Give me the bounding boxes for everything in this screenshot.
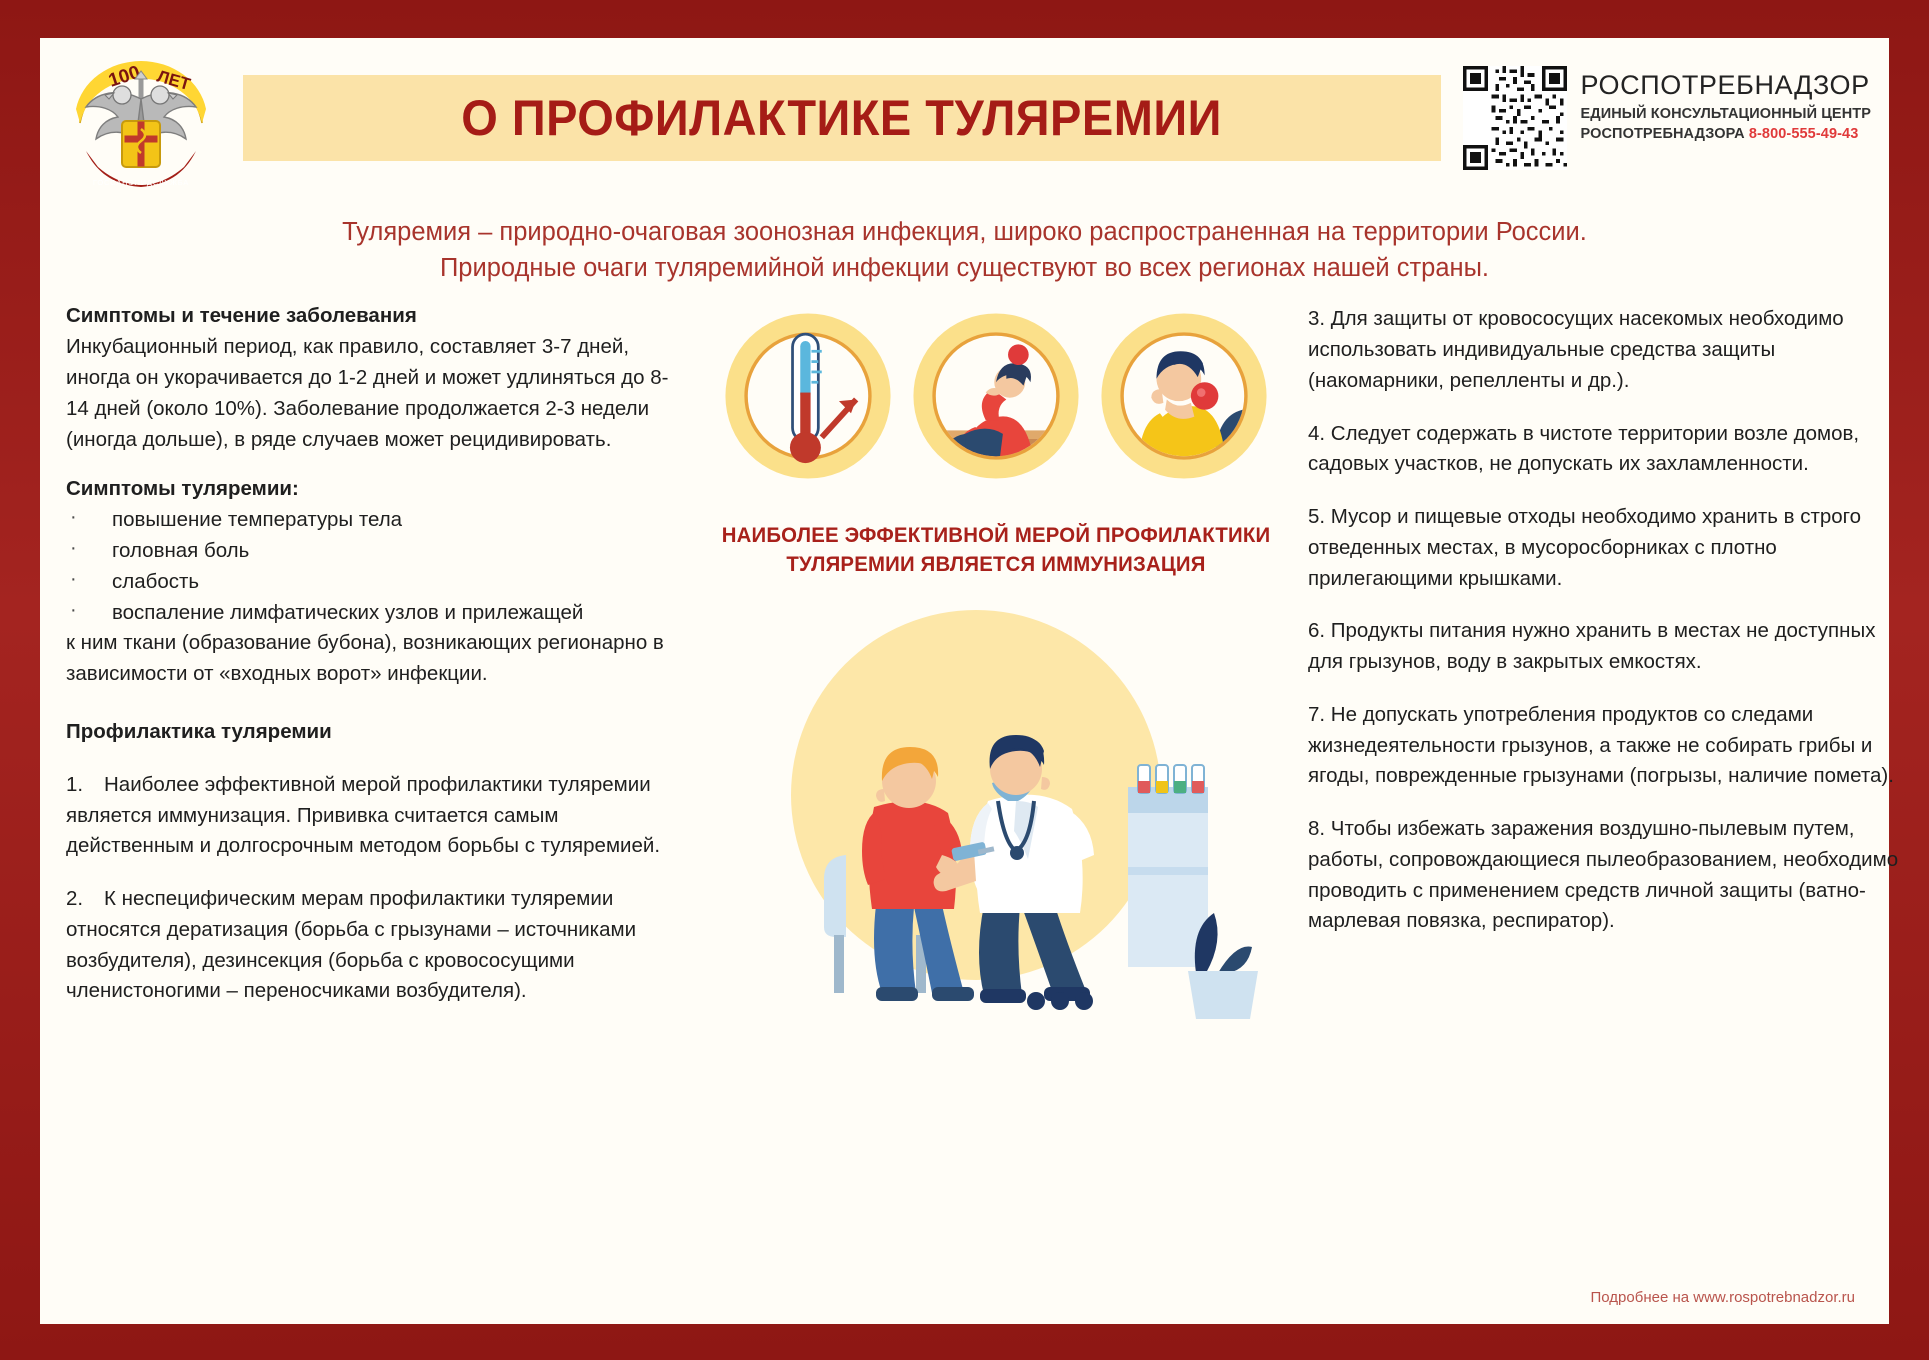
doctor-vaccinating-patient-illustration <box>726 605 1266 1035</box>
brand-block: РОСПОТРЕБНАДЗОР ЕДИНЫЙ КОНСУЛЬТАЦИОННЫЙ … <box>1463 66 1889 170</box>
symptoms-heading: Симптомы и течение заболевания <box>66 304 684 328</box>
symptom-list: повышение температуры тела головная боль… <box>66 505 684 628</box>
prevention-item-1-text: Наиболее эффективной мерой профилактики … <box>66 773 660 858</box>
right-column: 3. Для защиты от кровососущих насекомых … <box>1286 304 1906 1035</box>
title-banner: О ПРОФИЛАКТИКЕ ТУЛЯРЕМИИ <box>243 75 1441 161</box>
prevention-item-5: 5. Мусор и пищевые отходы необходимо хра… <box>1308 502 1906 594</box>
footer-link[interactable]: Подробнее на www.rospotrebnadzor.ru <box>1591 1289 1856 1306</box>
rospotrebnadzor-emblem: 100 ЛЕТ ГОССАНЭПИДСЛУЖБА <box>48 43 233 193</box>
vaccination-illustration-wrap <box>706 605 1286 1035</box>
person-swollen-lymph-node-icon <box>1098 310 1270 482</box>
poster-header: 100 ЛЕТ ГОССАНЭПИДСЛУЖБА <box>40 38 1889 198</box>
prevention-item-6: 6. Продукты питания нужно хранить в мест… <box>1308 616 1906 678</box>
symptom-list-tail: к ним ткани (образование бубона), возник… <box>66 628 684 690</box>
content-columns: Симптомы и течение заболевания Инкубацио… <box>40 296 1889 1035</box>
qr-code-icon[interactable] <box>1463 66 1567 170</box>
consult-center-line2: РОСПОТРЕБНАДЗОРА <box>1581 126 1745 142</box>
prevention-heading: Профилактика туляремии <box>66 720 684 744</box>
middle-column: НАИБОЛЕЕ ЭФФЕКТИВНОЙ МЕРОЙ ПРОФИЛАКТИКИ … <box>706 304 1286 1035</box>
person-headache-icon <box>910 310 1082 482</box>
prevention-item-4: 4. Следует содержать в чистоте территори… <box>1308 419 1906 481</box>
poster-content: 100 ЛЕТ ГОССАНЭПИДСЛУЖБА <box>40 38 1889 1324</box>
prevention-item-3: 3. Для защиты от кровососущих насекомых … <box>1308 304 1906 396</box>
hotline-phone[interactable]: 8-800-555-49-43 <box>1749 126 1859 142</box>
prevention-item-2-number: 2. <box>66 884 104 915</box>
thermometer-fever-icon <box>722 310 894 482</box>
brand-name: РОСПОТРЕБНАДЗОР <box>1581 70 1871 101</box>
page-title: О ПРОФИЛАКТИКЕ ТУЛЯРЕМИИ <box>461 89 1222 147</box>
immunization-headline-line-1: НАИБОЛЕЕ ЭФФЕКТИВНОЙ МЕРОЙ ПРОФИЛАКТИКИ <box>715 522 1278 550</box>
poster-frame: 100 ЛЕТ ГОССАНЭПИДСЛУЖБА <box>0 0 1929 1360</box>
immunization-headline-line-2: ТУЛЯРЕМИИ ЯВЛЯЕТСЯ ИММУНИЗАЦИЯ <box>715 551 1278 579</box>
prevention-item-2-text: К неспецифическим мерам профилактики тул… <box>66 887 636 1002</box>
intro-text: Туляремия – природно-очаговая зоонозная … <box>40 198 1889 296</box>
prevention-item-8: 8. Чтобы избежать заражения воздушно-пыл… <box>1308 814 1906 937</box>
double-headed-eagle-icon: 100 ЛЕТ ГОССАНЭПИДСЛУЖБА <box>56 47 226 193</box>
left-column: Симптомы и течение заболевания Инкубацио… <box>66 304 706 1035</box>
consult-center-line1: ЕДИНЫЙ КОНСУЛЬТАЦИОННЫЙ ЦЕНТР <box>1581 105 1871 125</box>
symptom-list-heading: Симптомы туляремии: <box>66 477 684 501</box>
intro-line-2: Природные очаги туляремийной инфекции су… <box>100 250 1829 286</box>
list-item: слабость <box>66 567 684 598</box>
prevention-item-2: 2.К неспецифическим мерам профилактики т… <box>66 884 684 1007</box>
list-item: головная боль <box>66 536 684 567</box>
prevention-item-1: 1.Наиболее эффективной мерой профилактик… <box>66 770 684 862</box>
list-item: воспаление лимфатических узлов и прилежа… <box>66 598 684 629</box>
list-item: повышение температуры тела <box>66 505 684 536</box>
svg-text:ГОССАНЭПИДСЛУЖБА: ГОССАНЭПИДСЛУЖБА <box>93 178 189 187</box>
symptom-icon-row <box>706 310 1286 482</box>
immunization-headline: НАИБОЛЕЕ ЭФФЕКТИВНОЙ МЕРОЙ ПРОФИЛАКТИКИ … <box>715 522 1278 579</box>
symptoms-body: Инкубационный период, как правило, соста… <box>66 332 684 455</box>
prevention-item-1-number: 1. <box>66 770 104 801</box>
prevention-item-7: 7. Не допускать употребления продуктов с… <box>1308 700 1906 792</box>
intro-line-1: Туляремия – природно-очаговая зоонозная … <box>100 214 1829 250</box>
